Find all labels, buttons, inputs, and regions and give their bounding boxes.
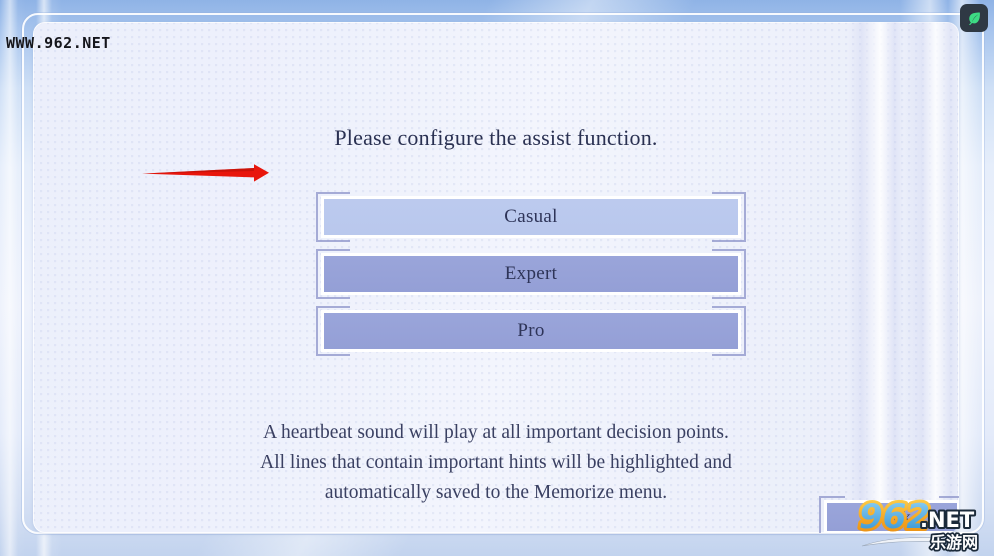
option-label-expert: Expert xyxy=(321,253,741,295)
option-button-casual[interactable]: Casual xyxy=(321,196,741,238)
page-title: Please configure the assist function. xyxy=(33,125,959,151)
assist-config-panel: Please configure the assist function. Ca… xyxy=(33,22,959,533)
svg-text:乐游网: 乐游网 xyxy=(930,533,978,552)
option-button-expert[interactable]: Expert xyxy=(321,253,741,295)
svg-text:.NET: .NET xyxy=(920,508,975,532)
description-line-3: automatically saved to the Memorize menu… xyxy=(33,478,959,508)
description-line-1: A heartbeat sound will play at all impor… xyxy=(33,418,959,448)
watermark-top-left: WWW.962.NET xyxy=(6,34,111,52)
leaf-glyph-icon xyxy=(966,10,983,27)
leaf-icon[interactable] xyxy=(960,4,988,32)
option-button-pro[interactable]: Pro xyxy=(321,310,741,352)
assist-description: A heartbeat sound will play at all impor… xyxy=(33,418,959,508)
option-label-casual: Casual xyxy=(321,196,741,238)
watermark-tld: .NET .NET xyxy=(920,508,975,532)
game-screen: Please configure the assist function. Ca… xyxy=(0,0,994,556)
option-label-pro: Pro xyxy=(321,310,741,352)
watermark-bottom-right: 962 962 .NET .NET 乐游网 乐游网 xyxy=(856,496,992,554)
description-line-2: All lines that contain important hints w… xyxy=(33,448,959,478)
watermark-subtitle: 乐游网 乐游网 xyxy=(930,533,978,552)
